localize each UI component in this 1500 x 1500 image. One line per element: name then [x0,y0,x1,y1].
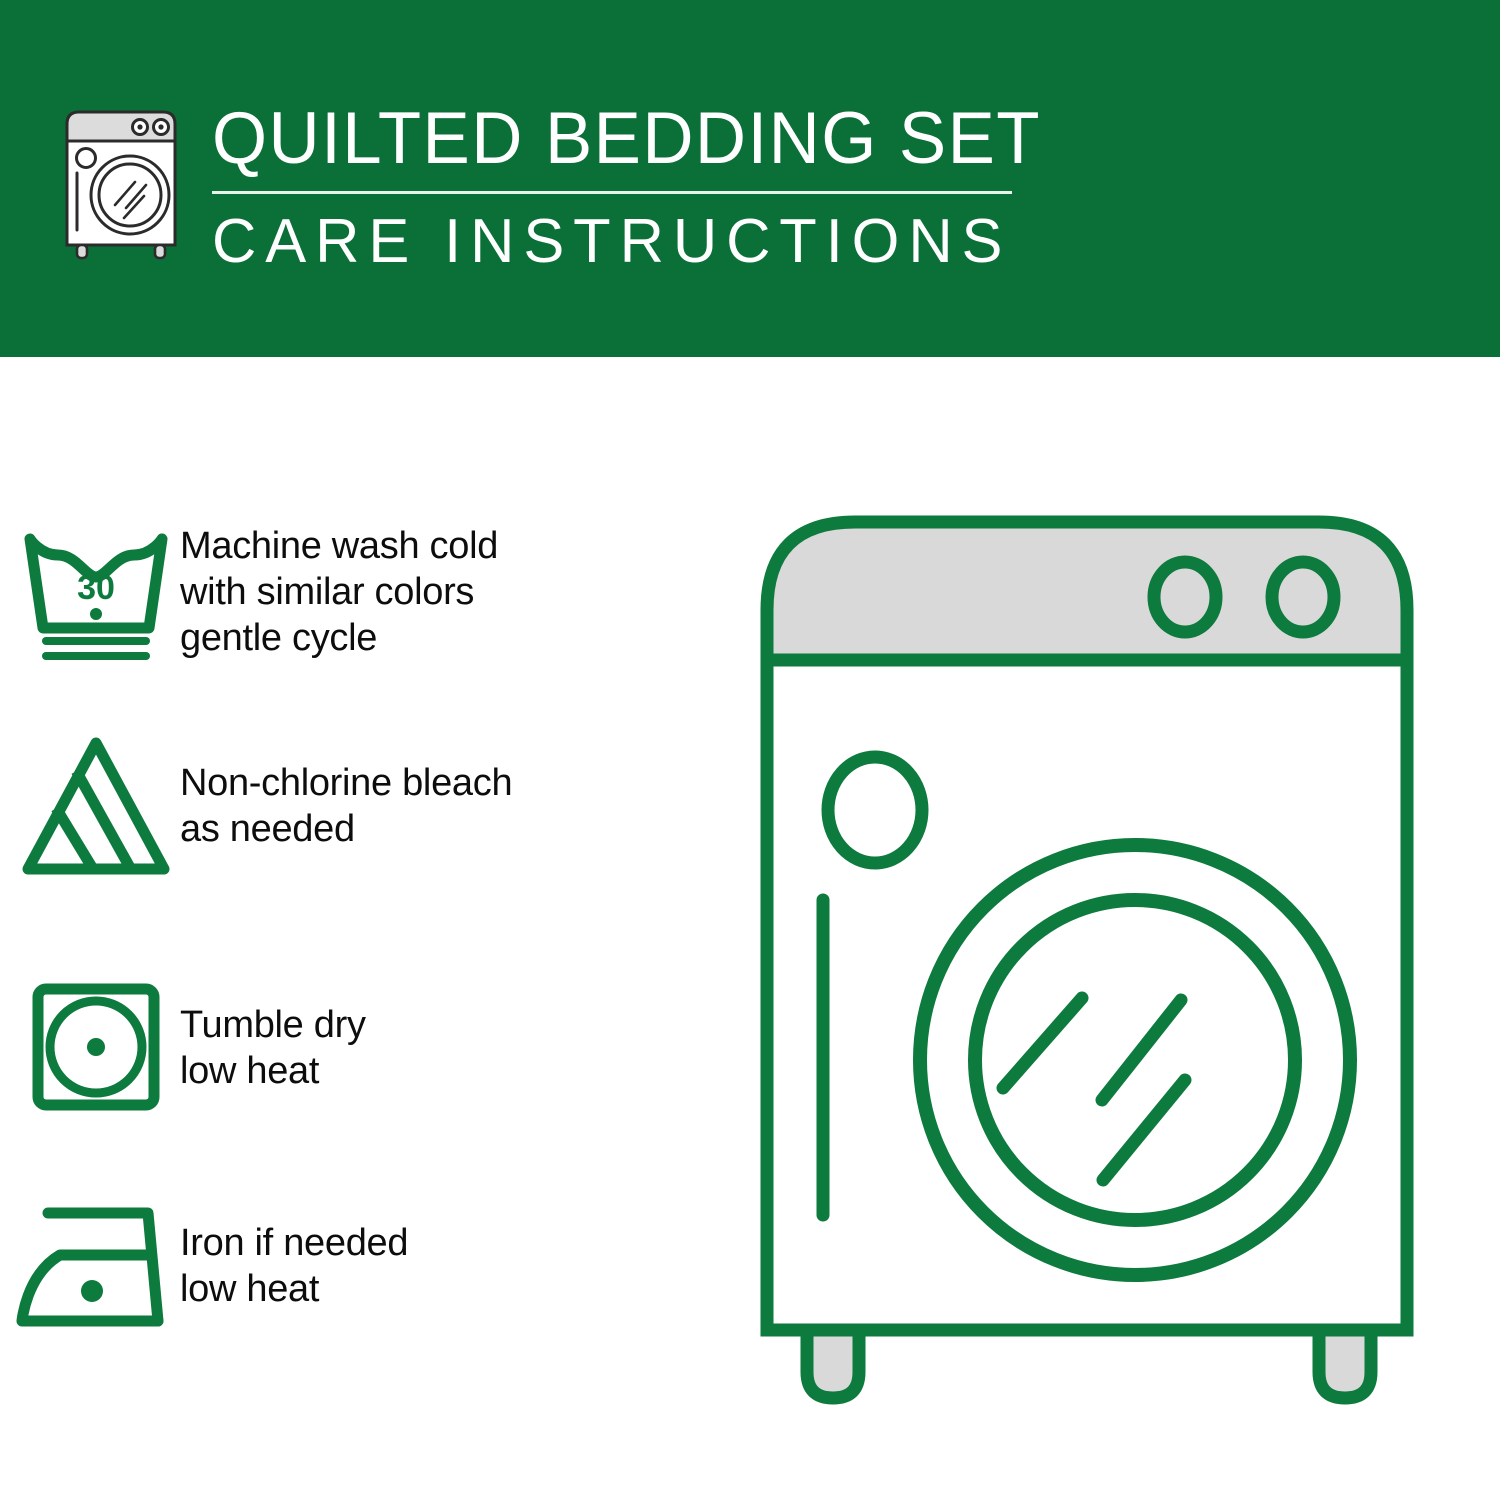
header-text-block: QUILTED BEDDING SET CARE INSTRUCTIONS [212,100,1032,275]
care-line: Non-chlorine bleach [180,760,512,806]
title-divider [212,191,1012,194]
washing-machine-illustration [745,500,1455,1420]
care-item-label: Non-chlorine bleach as needed [180,730,512,852]
care-line: as needed [180,806,512,852]
care-item-label: Tumble dry low heat [180,972,366,1094]
wash-temperature-label: 30 [77,569,115,607]
care-item-label: Machine wash cold with similar colors ge… [180,517,498,661]
page-title: QUILTED BEDDING SET [212,100,1007,178]
washing-machine-icon [62,108,194,260]
wash-tub-30-gentle-icon: 30 [0,517,180,667]
care-line: with similar colors [180,569,498,615]
care-line: low heat [180,1048,366,1094]
page-subtitle: CARE INSTRUCTIONS [212,209,1024,275]
header-banner: QUILTED BEDDING SET CARE INSTRUCTIONS [0,0,1500,357]
care-instruction-list: 30 Machine wash cold with similar colors… [0,357,720,1500]
care-line: low heat [180,1266,408,1312]
iron-low-heat-icon [0,1192,180,1342]
care-line: Machine wash cold [180,523,498,569]
care-item-bleach: Non-chlorine bleach as needed [0,730,720,880]
care-item-iron: Iron if needed low heat [0,1192,720,1342]
care-line: gentle cycle [180,615,498,661]
care-item-tumble-dry: Tumble dry low heat [0,972,720,1122]
care-item-machine-wash: 30 Machine wash cold with similar colors… [0,517,720,667]
care-instructions-page: QUILTED BEDDING SET CARE INSTRUCTIONS 30 [0,0,1500,1500]
care-line: Tumble dry [180,1002,366,1048]
non-chlorine-bleach-triangle-icon [0,730,180,880]
care-item-label: Iron if needed low heat [180,1192,408,1312]
care-line: Iron if needed [180,1220,408,1266]
tumble-dry-low-heat-icon [0,972,180,1122]
